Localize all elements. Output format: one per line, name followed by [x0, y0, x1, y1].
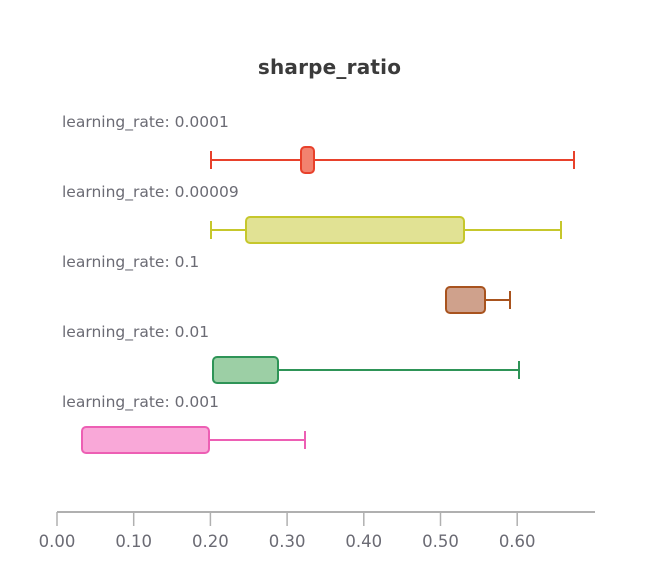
- whisker-left: [210, 229, 245, 231]
- whisker-right: [210, 439, 306, 441]
- axis-tick-label: 0.00: [39, 532, 76, 551]
- whisker-left: [210, 159, 300, 161]
- facet-label: learning_rate: 0.00009: [62, 183, 239, 201]
- facet-label: learning_rate: 0.0001: [62, 113, 229, 131]
- box-plot-area: [0, 207, 659, 253]
- facet-row: learning_rate: 0.001: [0, 393, 659, 463]
- facet-row: learning_rate: 0.1: [0, 253, 659, 323]
- axis-tick-label: 0.60: [499, 532, 536, 551]
- whisker-right: [465, 229, 562, 231]
- box-plot-area: [0, 417, 659, 463]
- facet-row: learning_rate: 0.00009: [0, 183, 659, 253]
- facet-label: learning_rate: 0.1: [62, 253, 199, 271]
- box-plot-area: [0, 347, 659, 393]
- whisker-cap-right: [518, 361, 520, 379]
- facet-row: learning_rate: 0.01: [0, 323, 659, 393]
- axis-tick-label: 0.50: [422, 532, 459, 551]
- whisker-cap-right: [304, 431, 306, 449]
- box-plot-chart: sharpe_ratio learning_rate: 0.0001learni…: [0, 0, 659, 579]
- box-rect: [300, 146, 315, 174]
- axis-tick-label: 0.20: [192, 532, 229, 551]
- whisker-right: [279, 369, 520, 371]
- whisker-cap-left: [210, 151, 212, 169]
- box-rect: [245, 216, 465, 244]
- box-plot-area: [0, 137, 659, 183]
- facet-label: learning_rate: 0.001: [62, 393, 219, 411]
- whisker-cap-right: [573, 151, 575, 169]
- whisker-cap-right: [560, 221, 562, 239]
- box-plot-area: [0, 277, 659, 323]
- whisker-cap-left: [210, 221, 212, 239]
- whisker-cap-right: [509, 291, 511, 309]
- box-rect: [445, 286, 486, 314]
- whisker-right: [486, 299, 511, 301]
- facet-row: learning_rate: 0.0001: [0, 113, 659, 183]
- axis-tick-label: 0.30: [269, 532, 306, 551]
- facet-label: learning_rate: 0.01: [62, 323, 209, 341]
- whisker-right: [315, 159, 575, 161]
- box-rect: [81, 426, 210, 454]
- box-rect: [212, 356, 279, 384]
- chart-title: sharpe_ratio: [0, 55, 659, 79]
- axis-tick-label: 0.40: [345, 532, 382, 551]
- axis-tick-label: 0.10: [115, 532, 152, 551]
